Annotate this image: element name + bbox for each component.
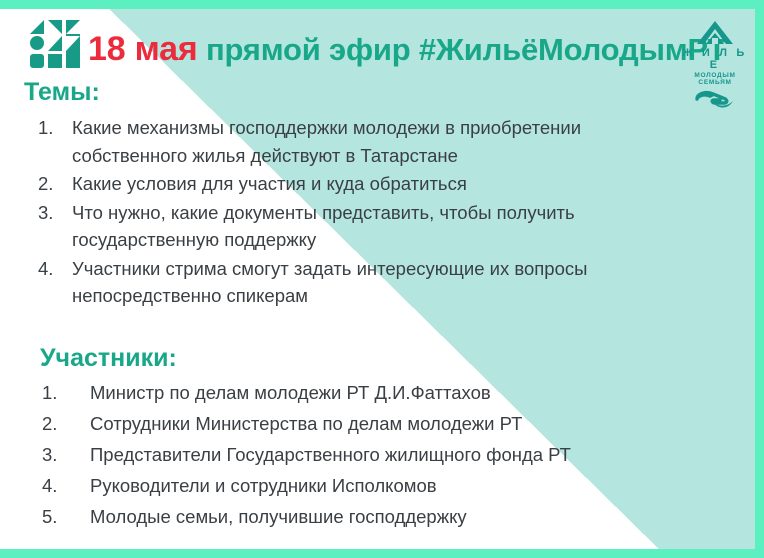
list-item: 5. Молодые семьи, получившие господдержк… xyxy=(38,502,698,532)
list-item: 3. Что нужно, какие документы представит… xyxy=(38,199,678,254)
top-border-accent xyxy=(0,0,764,9)
participants-list: 1. Министр по делам молодежи РТ Д.И.Фатт… xyxy=(38,378,698,533)
list-item-text: Сотрудники Министерства по делам молодеж… xyxy=(90,409,698,439)
list-item-text: Какие условия для участия и куда обратит… xyxy=(72,170,678,198)
ministry-m-logo-icon xyxy=(28,18,84,70)
right-border-accent xyxy=(755,0,764,558)
logo-subtitle-text: МОЛОДЫМ СЕМЬЯМ xyxy=(678,72,752,86)
house-icon xyxy=(678,20,752,46)
list-item-text: Какие механизмы господдержки молодежи в … xyxy=(72,114,678,169)
list-item-number: 4. xyxy=(38,471,90,501)
list-item-number: 2. xyxy=(38,409,90,439)
list-item-text: Руководители и сотрудники Исполкомов xyxy=(90,471,698,501)
list-item-number: 3. xyxy=(38,440,90,470)
slide-title: 18 мая прямой эфир #ЖильёМолодымРТ xyxy=(88,30,726,69)
hand-icon xyxy=(678,90,752,110)
list-item: 4. Участники стрима смогут задать интере… xyxy=(38,255,678,310)
slide-header: 18 мая прямой эфир #ЖильёМолодымРТ Ж И Л… xyxy=(0,14,764,76)
list-item: 2. Какие условия для участия и куда обра… xyxy=(38,170,678,198)
list-item: 4. Руководители и сотрудники Исполкомов xyxy=(38,471,698,501)
list-item-text: Что нужно, какие документы представить, … xyxy=(72,199,678,254)
list-item-text: Участники стрима смогут задать интересую… xyxy=(72,255,678,310)
list-item: 2. Сотрудники Министерства по делам моло… xyxy=(38,409,698,439)
list-item: 3. Представители Государственного жилищн… xyxy=(38,440,698,470)
list-item-number: 2. xyxy=(38,170,72,198)
broadcast-title-text: прямой эфир #ЖильёМолодымРТ xyxy=(206,32,726,67)
list-item-text: Министр по делам молодежи РТ Д.И.Фаттахо… xyxy=(90,378,698,408)
list-item-text: Молодые семьи, получившие господдержку xyxy=(90,502,698,532)
presentation-slide: 18 мая прямой эфир #ЖильёМолодымРТ Ж И Л… xyxy=(0,0,764,558)
list-item-number: 1. xyxy=(38,378,90,408)
list-item-number: 5. xyxy=(38,502,90,532)
participants-heading: Участники: xyxy=(40,344,177,373)
list-item-number: 3. xyxy=(38,199,72,227)
bottom-border-accent xyxy=(0,549,764,558)
list-item-number: 1. xyxy=(38,114,72,142)
list-item: 1. Министр по делам молодежи РТ Д.И.Фатт… xyxy=(38,378,698,408)
broadcast-date: 18 мая xyxy=(88,30,198,68)
list-item-text: Представители Государственного жилищного… xyxy=(90,440,698,470)
list-item-number: 4. xyxy=(38,255,72,283)
topics-heading: Темы: xyxy=(24,78,100,107)
logo-brand-text: Ж И Л Ь Е xyxy=(678,47,752,71)
zhilye-molodym-logo: Ж И Л Ь Е МОЛОДЫМ СЕМЬЯМ xyxy=(678,20,752,110)
list-item: 1. Какие механизмы господдержки молодежи… xyxy=(38,114,678,169)
topics-list: 1. Какие механизмы господдержки молодежи… xyxy=(38,114,678,311)
